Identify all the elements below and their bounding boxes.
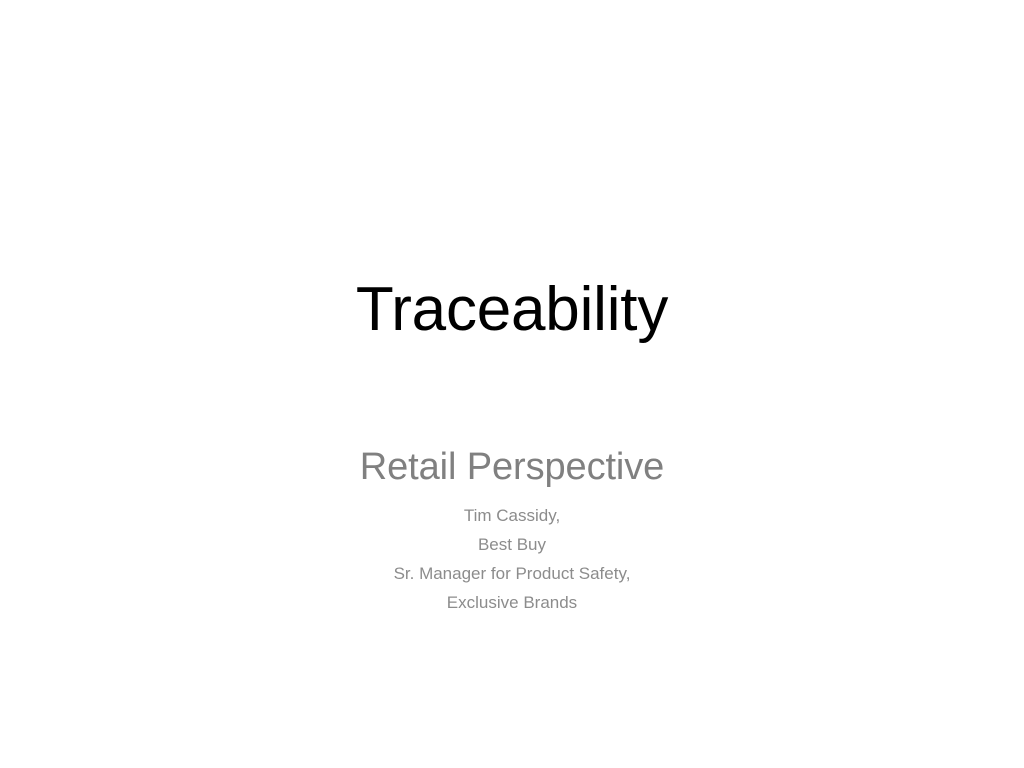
title-placeholder: Traceability [0,272,1024,348]
presenter-company: Best Buy [0,530,1024,559]
presentation-slide: Traceability Retail Perspective Tim Cass… [0,0,1024,768]
presenter-info-block: Tim Cassidy, Best Buy Sr. Manager for Pr… [0,501,1024,617]
slide-subtitle: Retail Perspective [0,444,1024,490]
presenter-title: Sr. Manager for Product Safety, [0,559,1024,588]
presenter-department: Exclusive Brands [0,588,1024,617]
presenter-name: Tim Cassidy, [0,501,1024,530]
page-title: Traceability [0,272,1024,348]
subtitle-placeholder: Retail Perspective [0,444,1024,490]
